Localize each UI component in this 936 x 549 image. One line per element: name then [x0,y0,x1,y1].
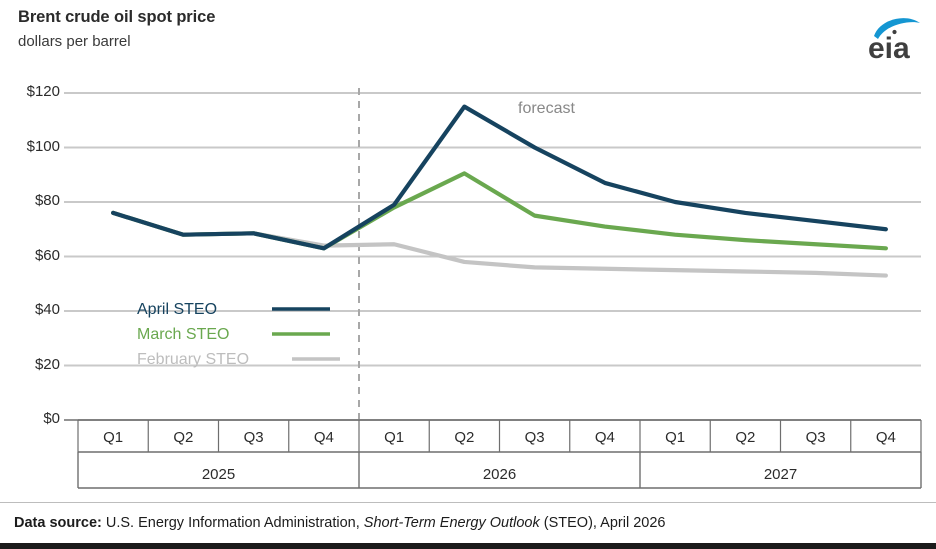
y-axis-tick-label: $20 [4,356,60,373]
data-source-prefix: Data source: [14,515,102,531]
y-axis-tick-label: $80 [4,192,60,209]
y-axis-tick-label: $60 [4,247,60,264]
x-axis-quarter-label: Q3 [781,429,851,446]
footer-divider [0,502,936,503]
series-line-march-steo [113,173,886,248]
x-axis-quarter-label: Q1 [359,429,429,446]
x-axis-quarter-label: Q2 [710,429,780,446]
x-axis-quarter-label: Q4 [851,429,921,446]
y-axis-tick-label: $120 [4,83,60,100]
chart-page: Brent crude oil spot price dollars per b… [0,0,936,549]
series-line-february-steo [113,213,886,276]
x-axis-quarter-label: Q1 [78,429,148,446]
forecast-annotation: forecast [518,100,575,118]
bottom-bar [0,543,936,549]
series-line-april-steo [113,107,886,249]
x-axis-quarter-label: Q3 [219,429,289,446]
y-axis-tick-label: $40 [4,301,60,318]
y-axis-tick-label: $100 [4,138,60,155]
legend-item-february-steo: February STEO [137,351,249,369]
x-axis-year-label: 2026 [359,466,640,483]
legend-item-march-steo: March STEO [137,326,229,344]
x-axis-quarter-label: Q2 [429,429,499,446]
x-axis-year-label: 2025 [78,466,359,483]
data-source-note: Data source: U.S. Energy Information Adm… [14,515,665,531]
x-axis-quarter-label: Q4 [289,429,359,446]
x-axis-quarter-label: Q1 [640,429,710,446]
data-source-publication: Short-Term Energy Outlook [364,515,540,531]
legend-item-april-steo: April STEO [137,301,217,319]
x-axis-quarter-label: Q4 [570,429,640,446]
x-axis-quarter-label: Q3 [500,429,570,446]
data-source-suffix: (STEO), April 2026 [544,515,666,531]
x-axis-quarter-label: Q2 [148,429,218,446]
y-axis-tick-label: $0 [4,410,60,427]
x-axis-year-label: 2027 [640,466,921,483]
data-source-agency: U.S. Energy Information Administration, [106,515,360,531]
